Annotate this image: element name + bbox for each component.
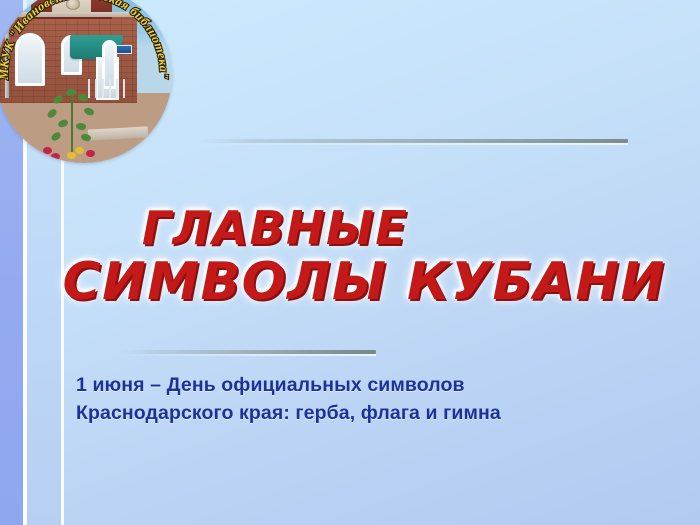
cornice xyxy=(0,12,137,17)
drainpipe xyxy=(5,17,9,98)
slide-subtitle-line-2: Краснодарского края: герба, флага и гимн… xyxy=(76,400,636,428)
foreground-plant xyxy=(42,84,105,163)
divider-rule-lower xyxy=(120,350,376,354)
slide-title-line-2: СИМВОЛЫ КУБАНИ xyxy=(0,256,700,309)
divider-rule-upper xyxy=(200,139,628,143)
slide-subtitle: 1 июня – День официальных символов Красн… xyxy=(76,372,636,427)
library-building-photo xyxy=(0,0,172,163)
presentation-slide: МКУК "Ивановская сельская библиотека" ГЛ… xyxy=(0,0,700,525)
library-emblem xyxy=(0,0,172,163)
plant-stem xyxy=(71,92,73,154)
slide-title-line-1: ГЛАВНЫЕ xyxy=(0,205,700,252)
slide-title: ГЛАВНЫЕ СИМВОЛЫ КУБАНИ xyxy=(0,205,700,309)
window-left xyxy=(15,33,45,86)
slide-subtitle-line-1: 1 июня – День официальных символов xyxy=(76,372,636,400)
